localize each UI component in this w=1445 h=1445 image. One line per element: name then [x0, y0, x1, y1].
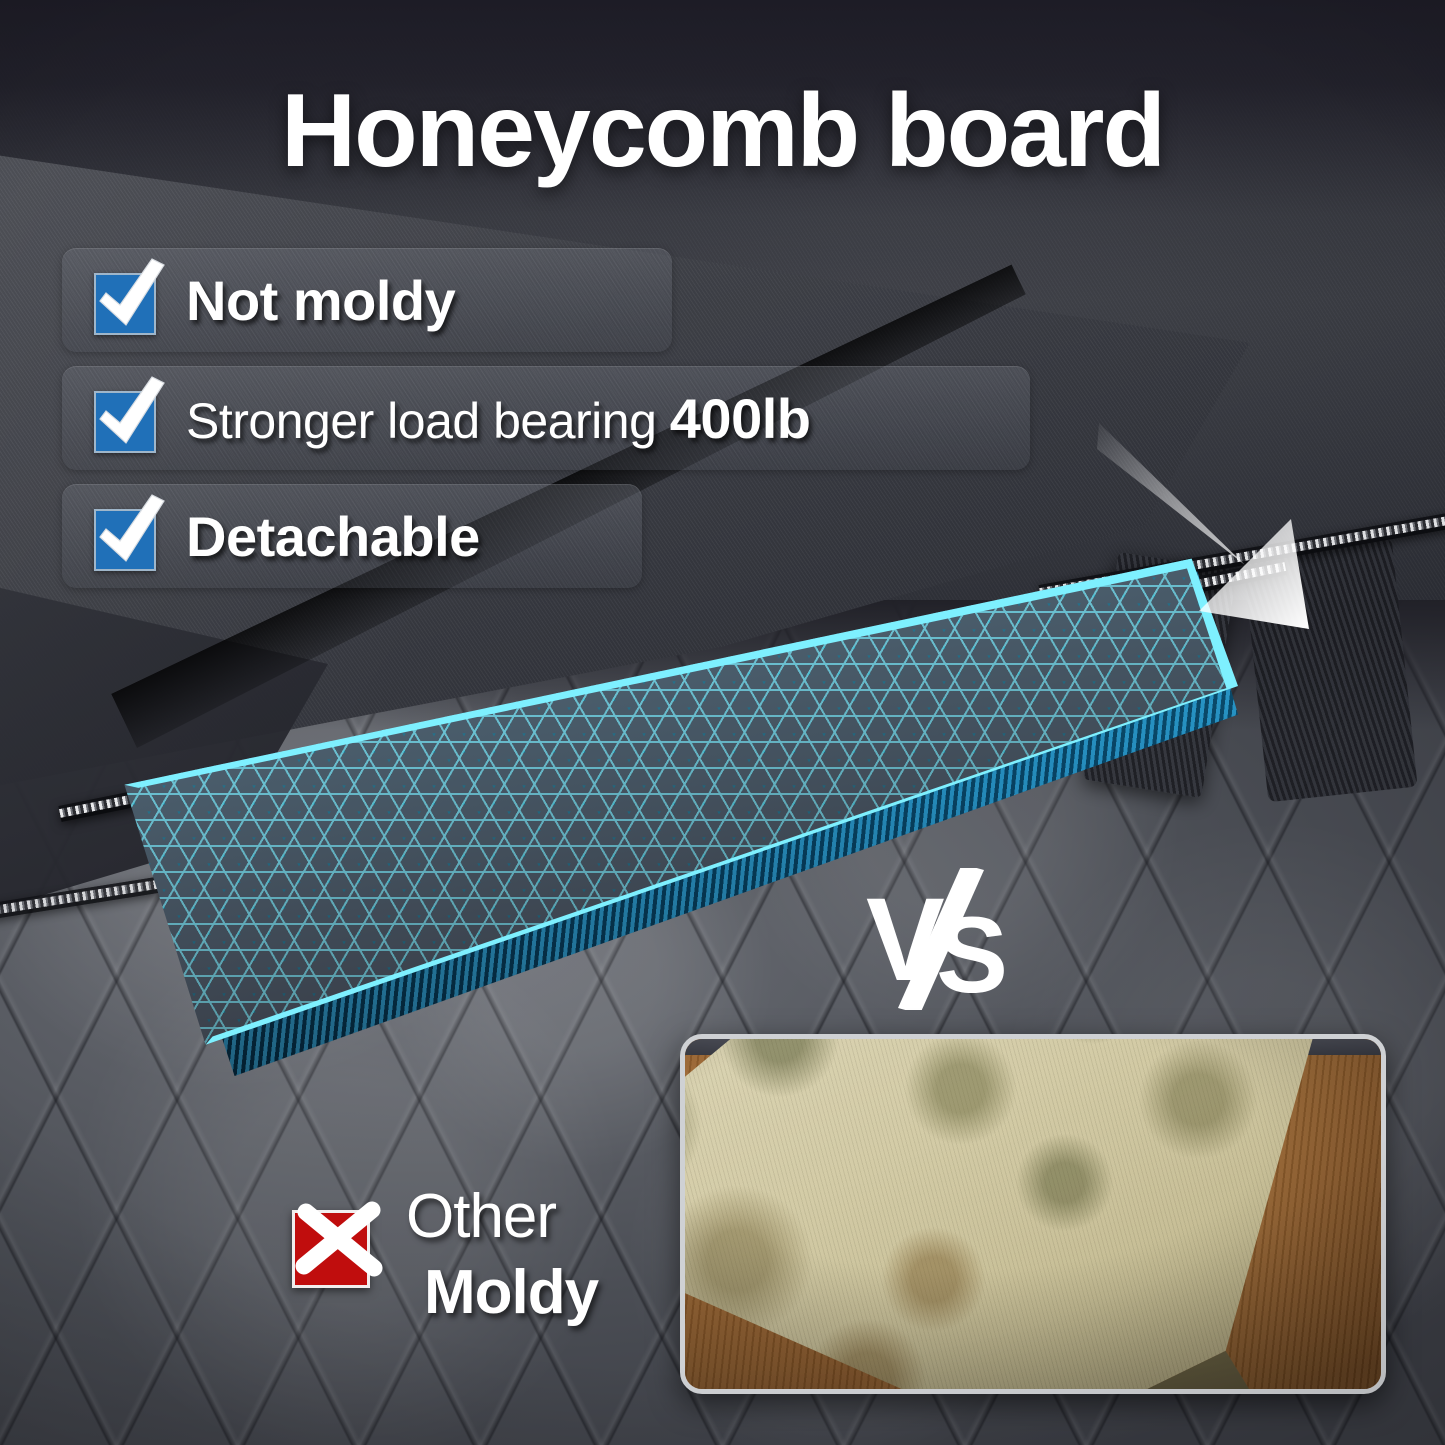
product-infographic: V S Honeycomb board Not moldy Str: [0, 0, 1445, 1445]
red-x-cross-icon: [286, 1194, 392, 1300]
moldy-particleboard-photo: [680, 1034, 1386, 1394]
feature-label: Not moldy: [186, 268, 455, 333]
page-title: Honeycomb board: [0, 72, 1445, 191]
checkmark-icon: [86, 489, 172, 575]
feature-row: Not moldy: [62, 248, 672, 352]
photo-vignette: [685, 1039, 1381, 1389]
feature-row: Stronger load bearing 400lb: [62, 366, 1030, 470]
checkmark-icon: [86, 371, 172, 457]
feature-label-emphasis: 400lb: [670, 387, 811, 450]
feature-label: Detachable: [186, 504, 480, 569]
versus-icon: V S: [862, 868, 1022, 1010]
feature-checklist: Not moldy Stronger load bearing 400lb De…: [62, 248, 1062, 602]
honeycomb-board-panel: [78, 556, 1238, 1076]
reject-label-secondary: Moldy: [424, 1262, 598, 1324]
feature-row: Detachable: [62, 484, 642, 588]
blue-checkbox-check-icon: [88, 379, 166, 457]
reject-text-block: Other Moldy: [406, 1186, 598, 1324]
down-right-arrow-icon: [1095, 415, 1395, 665]
feature-label: Stronger load bearing: [186, 393, 670, 449]
feature-label-wrap: Stronger load bearing 400lb: [186, 386, 810, 451]
reject-label-primary: Other: [406, 1186, 598, 1248]
x-mark-icon: [286, 1194, 392, 1300]
blue-checkbox-check-icon: [88, 497, 166, 575]
blue-checkbox-check-icon: [88, 261, 166, 339]
checkmark-icon: [86, 253, 172, 339]
